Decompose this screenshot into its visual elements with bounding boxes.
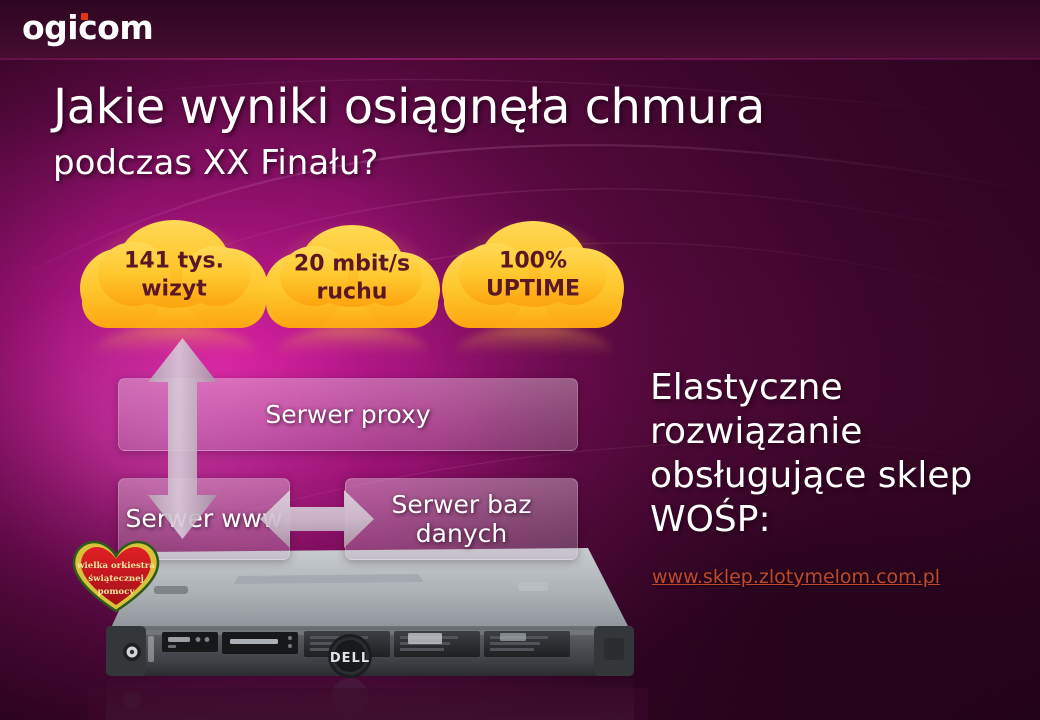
box-label-proxy: Serwer proxy: [265, 400, 430, 430]
double-headed-vertical-arrow-icon: [145, 336, 220, 541]
cloud-metric-uptime[interactable]: 100%UPTIME: [440, 218, 626, 332]
right-headline: Elastyczne rozwiązanie obsługujące sklep…: [650, 366, 990, 542]
dell-server-photo: DELL: [88, 540, 648, 720]
cloud-label-uptime: 100%UPTIME: [440, 248, 626, 303]
arrow-www-to-db[interactable]: [258, 487, 376, 551]
shop-link[interactable]: www.sklep.zlotymelom.com.pl: [652, 566, 940, 588]
box-label-database: Serwer baz danych: [346, 490, 577, 549]
wosp-line-3: pomocy: [98, 587, 136, 597]
svg-text:DELL: DELL: [330, 651, 370, 666]
server-illustration: DELL: [88, 540, 648, 720]
page-subtitle: podczas XX Finału?: [53, 145, 753, 182]
cloud-label-traffic: 20 mbit/sruchu: [262, 251, 442, 306]
double-headed-horizontal-arrow-icon: [258, 487, 376, 551]
heart-icon: wielka orkiestra świątecznej pomocy: [70, 538, 162, 614]
diagram-box-database[interactable]: Serwer baz danych: [345, 478, 578, 560]
header-band: [0, 0, 1040, 59]
wosp-line-1: wielka orkiestra: [76, 561, 155, 571]
cloud-metric-visits[interactable]: 141 tys.wizyt: [78, 218, 270, 332]
header-divider: [0, 58, 1040, 60]
arrow-cloud-to-www[interactable]: [145, 336, 220, 541]
logo-dot-icon: [81, 13, 88, 20]
page-title: Jakie wyniki osiągnęła chmura: [53, 82, 853, 132]
wosp-line-2: świątecznej: [88, 574, 143, 584]
cloud-metric-traffic[interactable]: 20 mbit/sruchu: [262, 224, 442, 332]
wosp-heart-logo: wielka orkiestra świątecznej pomocy: [70, 538, 162, 614]
cloud-label-visits: 141 tys.wizyt: [78, 248, 270, 303]
ogicom-logo[interactable]: ogicom: [22, 11, 153, 44]
slide: ogicom Jakie wyniki osiągnęła chmura pod…: [0, 0, 1040, 720]
